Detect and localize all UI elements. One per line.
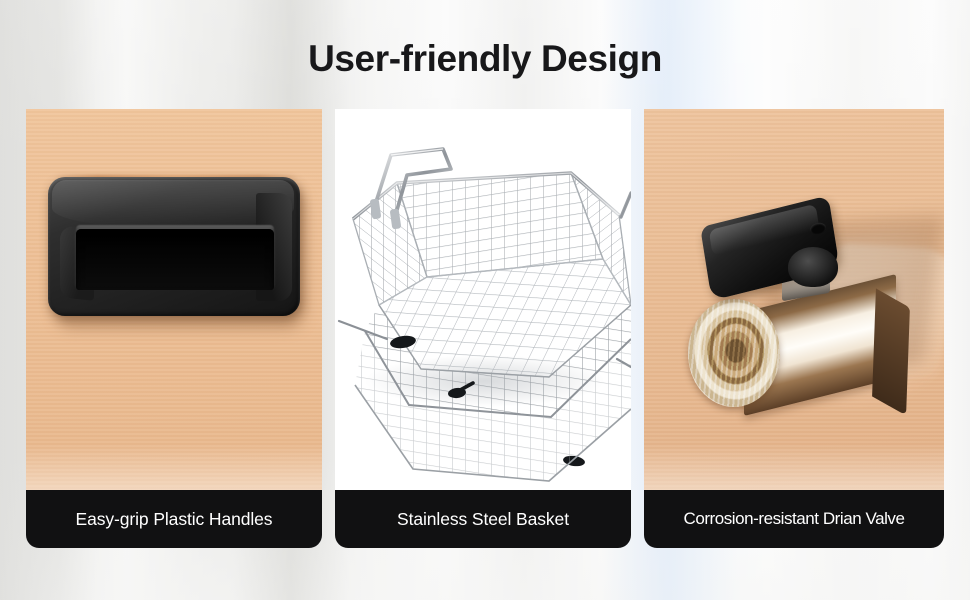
steel-basket-photo xyxy=(335,109,631,490)
drain-valve-photo xyxy=(644,109,944,490)
wood-bottom-highlight xyxy=(644,444,944,490)
feature-panel-steel-basket: Stainless Steel Basket xyxy=(335,109,631,548)
wood-bottom-highlight xyxy=(26,444,322,490)
ball-valve-illustration xyxy=(678,201,928,437)
caption-label: Corrosion-resistant Drian Valve xyxy=(684,509,905,529)
feature-panel-plastic-handles: Easy-grip Plastic Handles xyxy=(26,109,322,548)
caption-label: Easy-grip Plastic Handles xyxy=(76,509,273,530)
caption-bar-steel-basket: Stainless Steel Basket xyxy=(335,490,631,548)
valve-thread-grooves xyxy=(688,299,780,407)
handle-recess-cavity xyxy=(76,229,274,290)
feature-panel-drain-valve: Corrosion-resistant Drian Valve xyxy=(644,109,944,548)
valve-lever-hub xyxy=(788,247,838,287)
product-feature-banner: User-friendly Design Easy-grip Plastic H… xyxy=(0,0,970,600)
page-title: User-friendly Design xyxy=(0,40,970,77)
caption-label: Stainless Steel Basket xyxy=(397,509,569,530)
caption-bar-plastic-handles: Easy-grip Plastic Handles xyxy=(26,490,322,548)
plastic-handle-illustration xyxy=(48,177,304,323)
valve-body-side-face xyxy=(872,288,910,415)
caption-bar-drain-valve: Corrosion-resistant Drian Valve xyxy=(644,490,944,548)
plastic-handle-photo xyxy=(26,109,322,490)
steel-basket-drawing xyxy=(335,109,631,490)
